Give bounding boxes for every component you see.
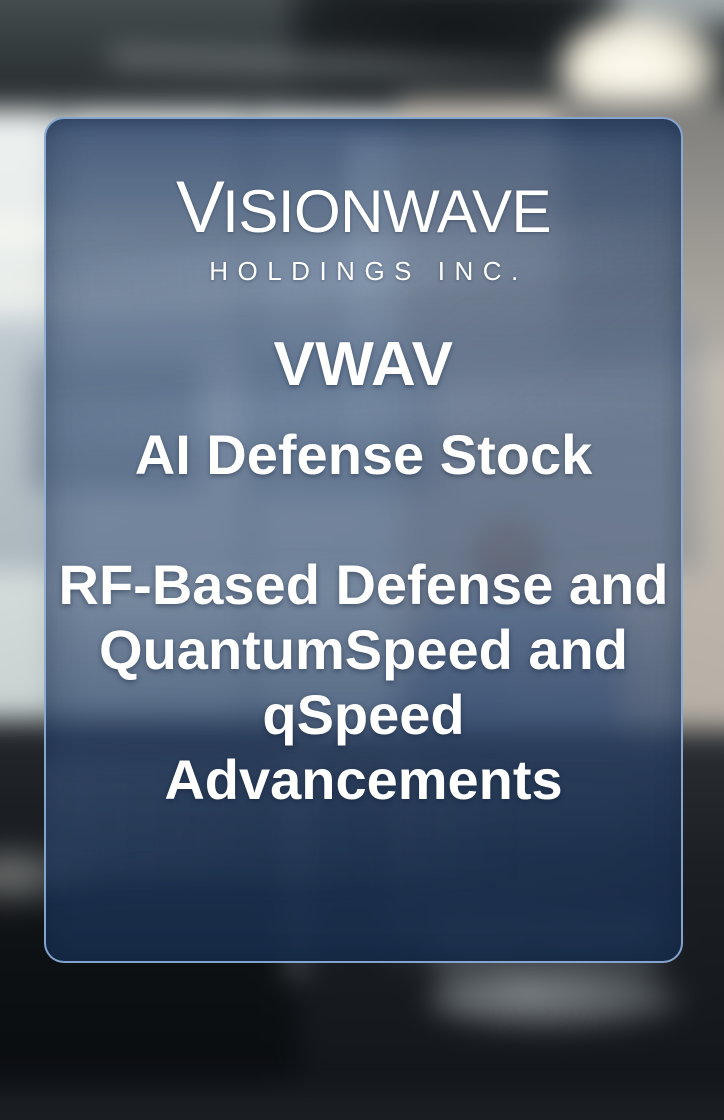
page-subtitle: AI Defense Stock xyxy=(135,422,593,487)
company-logo: VISIONWAVE HOLDINGS INC. xyxy=(176,171,551,287)
logo-wordmark: VISIONWAVE xyxy=(176,171,551,244)
page-headline: RF-Based Defense and QuantumSpeed and qS… xyxy=(58,553,670,813)
bg-chair-base xyxy=(430,972,680,1028)
ticker-symbol: VWAV xyxy=(274,329,454,400)
logo-subline: HOLDINGS INC. xyxy=(186,256,551,287)
logo-wordmark-rest: ISIONWAVE xyxy=(222,182,551,242)
glass-overlay-card: VISIONWAVE HOLDINGS INC. VWAV AI Defense… xyxy=(44,117,683,963)
logo-lead-letter: V xyxy=(176,171,224,244)
